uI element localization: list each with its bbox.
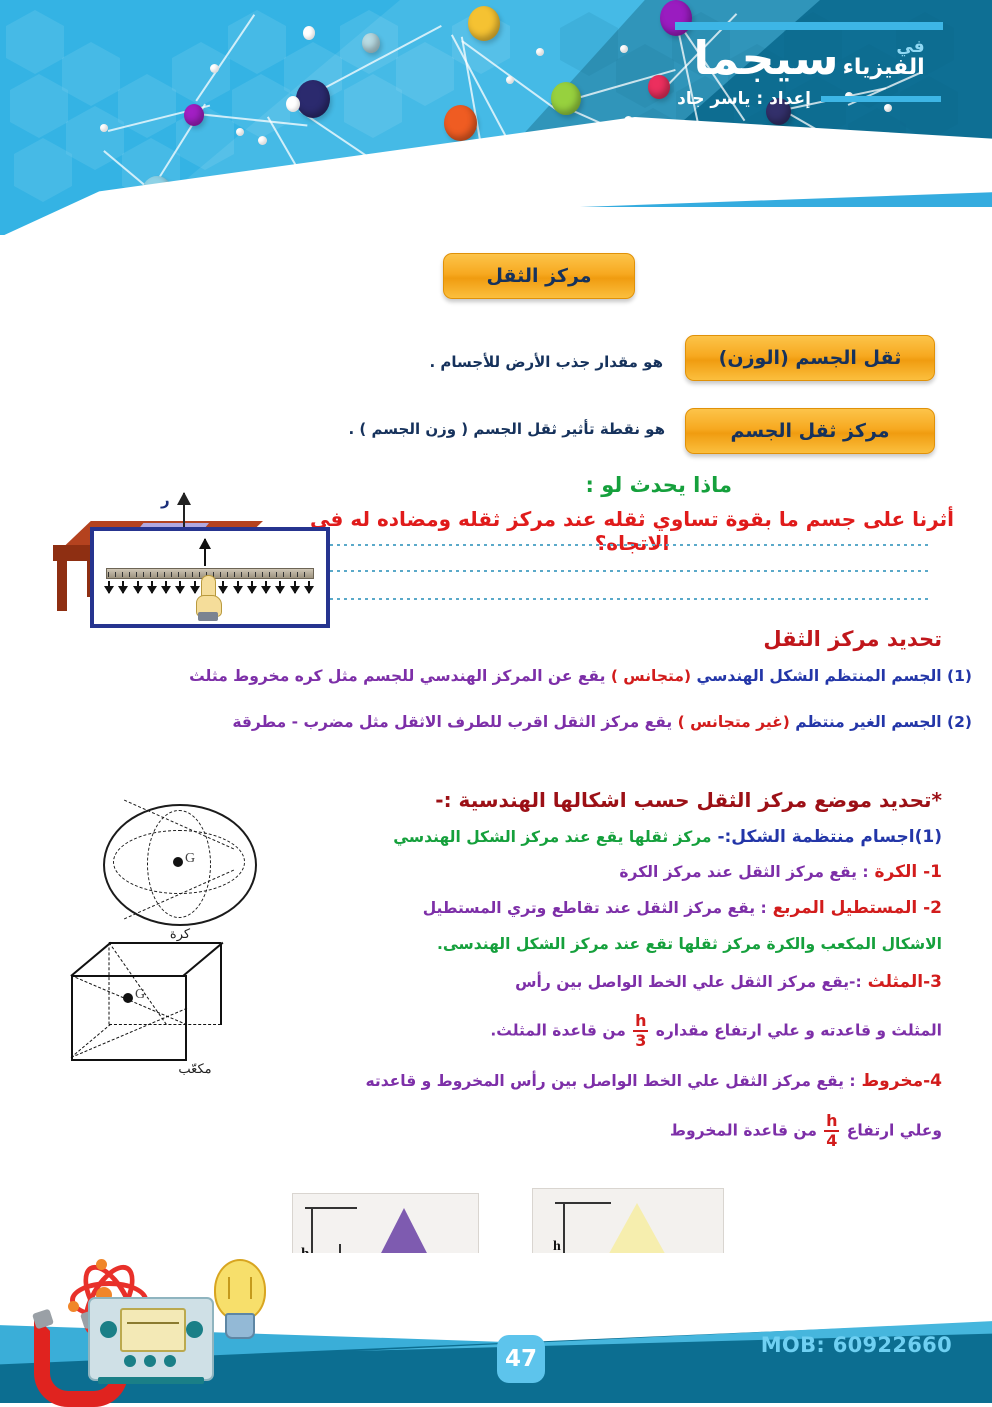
cube-edge [70, 942, 111, 977]
shape-item-triangle-text-a: :-يقع مركز الثقل علي الخط الواصل بين رأس [515, 973, 862, 991]
determine-item-2-part-a: (2) الجسم الغير منتظم [795, 713, 972, 731]
shape-item-triangle: 3-المثلث :-يقع مركز الثقل علي الخط الواص… [222, 972, 942, 992]
determine-item-1-part-c: يقع عن المركز الهندسي للجسم مثل كره مخرو… [189, 667, 605, 685]
cone-top-tick [555, 1202, 611, 1204]
shape-item-rectangle: 2- المستطيل المربع : يقع مركز الثقل عند … [222, 898, 942, 918]
triangle-fraction-denominator: 3 [635, 1033, 646, 1049]
logo-physics-text: الفيزياء [843, 56, 925, 79]
shapes-green-note: الاشكال المكعب والكرة مركز ثقلها تقع عند… [222, 935, 942, 953]
determine-item-1-part-a: (1) الجسم المنتظم الشكل الهندسي [696, 667, 972, 685]
mobile-contact: MOB: 60922660 [761, 1333, 952, 1357]
shape-item-cone-line2: وعلي ارتفاع h 4 من قاعدة المخروط [222, 1113, 942, 1149]
reaction-label: ر [161, 491, 170, 509]
triangle-fraction: h 3 [633, 1013, 648, 1049]
page-number-badge: 47 [497, 1335, 545, 1383]
sphere-center-point [173, 857, 183, 867]
brand-logo: في الفيزياء سيجما إعداد : ياسر جاد [644, 22, 974, 109]
shape-item-triangle-text-c: من قاعدة المثلث. [490, 1022, 625, 1040]
ruler-balance-figure [90, 527, 330, 628]
determine-item-2-part-c: يقع مركز الثقل اقرب للطرف الاثقل مثل مضر… [232, 713, 672, 731]
page-header: في الفيزياء سيجما إعداد : ياسر جاد [0, 0, 992, 235]
shapes-heading: *تحديد موضع مركز الثقل حسب اشكالها الهند… [435, 788, 942, 812]
logo-main-text: سيجما [693, 36, 838, 81]
upward-force-arrow [204, 539, 206, 566]
button-center-of-gravity[interactable]: مركز ثقل الجسم [685, 408, 935, 454]
cube-edge [109, 942, 221, 944]
shape-item-cone: 4-مخروط : يقع مركز الثقل علي الخط الواصل… [182, 1071, 942, 1091]
definition-center-of-gravity: هو نقطة تأثير ثقل الجسم ( وزن الجسم ) . [340, 420, 665, 438]
cube-edge [182, 942, 223, 977]
shape-item-rectangle-text: : يقع مركز الثقل عند تقاطع وتري المستطيل [423, 899, 767, 917]
logo-fee-text: في [896, 39, 924, 56]
determine-item-2-part-b: (غير متجانس ) [678, 713, 790, 731]
cube-center-label: G [135, 987, 145, 1003]
button-body-weight-label: ثقل الجسم (الوزن) [719, 347, 902, 369]
regular-bodies-note: مركز ثقلها يقع عند مركز الشكل الهندسي [393, 828, 711, 846]
table-leg [57, 559, 67, 611]
determine-item-1-part-b: (متجانس ) [611, 667, 691, 685]
shape-item-sphere-text: : يقع مركز الثقل عند مركز الكرة [619, 863, 868, 881]
shape-item-triangle-title: 3-المثلث [868, 972, 942, 992]
oscilloscope-icon [88, 1297, 214, 1381]
regular-bodies-label: (1)اجسام منتظمة الشكل:- [717, 827, 942, 847]
shape-item-sphere-title: 1- الكرة [874, 862, 942, 882]
triangle-fraction-numerator: h [635, 1013, 646, 1029]
cone-fraction-denominator: 4 [826, 1133, 837, 1149]
physics-icons-cluster [28, 1255, 268, 1385]
oscilloscope-screen [120, 1308, 186, 1352]
sphere-center-label: G [185, 851, 195, 867]
logo-author-text: إعداد : ياسر جاد [677, 89, 811, 109]
determine-heading: تحديد مركز الثقل [763, 627, 942, 651]
page-content: ر و مركز الثقل ثقل الجسم (الوزن) مركز ثق… [0, 235, 992, 1325]
triangle-top-tick [305, 1207, 357, 1209]
lightbulb-icon [210, 1259, 266, 1345]
shape-item-triangle-line2: المثلث و قاعدته و علي ارتفاع مقداره h 3 … [222, 1013, 942, 1049]
shape-item-cone-text-a: : يقع مركز الثقل علي الخط الواصل بين رأس… [365, 1072, 855, 1090]
worksheet-page: في الفيزياء سيجما إعداد : ياسر جاد [0, 0, 992, 1403]
determine-item-1: (1) الجسم المنتظم الشكل الهندسي (متجانس … [32, 667, 972, 685]
logo-author-row: إعداد : ياسر جاد [644, 89, 974, 109]
hand-icon [192, 575, 222, 621]
regular-bodies-line: (1)اجسام منتظمة الشكل:- مركز ثقلها يقع ع… [222, 827, 942, 847]
logo-rule-top [675, 22, 943, 30]
page-number-text: 47 [505, 1346, 537, 1372]
heading-button-label: مركز الثقل [486, 265, 591, 287]
cube-figure: G مكعّب [65, 935, 265, 1075]
shape-item-sphere: 1- الكرة : يقع مركز الثقل عند مركز الكرة [222, 862, 942, 882]
heading-button-center-of-gravity[interactable]: مركز الثقل [443, 253, 635, 299]
shape-item-rectangle-title: 2- المستطيل المربع [773, 898, 942, 918]
button-center-of-gravity-label: مركز ثقل الجسم [730, 420, 889, 442]
button-body-weight[interactable]: ثقل الجسم (الوزن) [685, 335, 935, 381]
logo-rule-bottom [821, 96, 941, 102]
answer-dotted-lines [330, 540, 930, 616]
logo-text-line: في الفيزياء سيجما [644, 36, 974, 81]
shape-item-cone-text-c: من قاعدة المخروط [670, 1122, 817, 1140]
shape-item-cone-title: 4-مخروط [862, 1071, 942, 1091]
cube-hidden-edge [109, 943, 110, 1025]
question-prompt: ماذا يحدث لو : [586, 473, 733, 497]
determine-item-2: (2) الجسم الغير منتظم (غير متجانس ) يقع … [32, 713, 972, 731]
cube-center-point [123, 993, 133, 1003]
cone-fraction-numerator: h [826, 1113, 837, 1129]
shape-item-cone-text-b: وعلي ارتفاع [847, 1122, 942, 1140]
cone-fraction: h 4 [824, 1113, 839, 1149]
shape-item-triangle-text-b: المثلث و قاعدته و علي ارتفاع مقداره [656, 1022, 942, 1040]
definition-weight: هو مقدار جذب الأرض للأجسام . [418, 353, 663, 371]
